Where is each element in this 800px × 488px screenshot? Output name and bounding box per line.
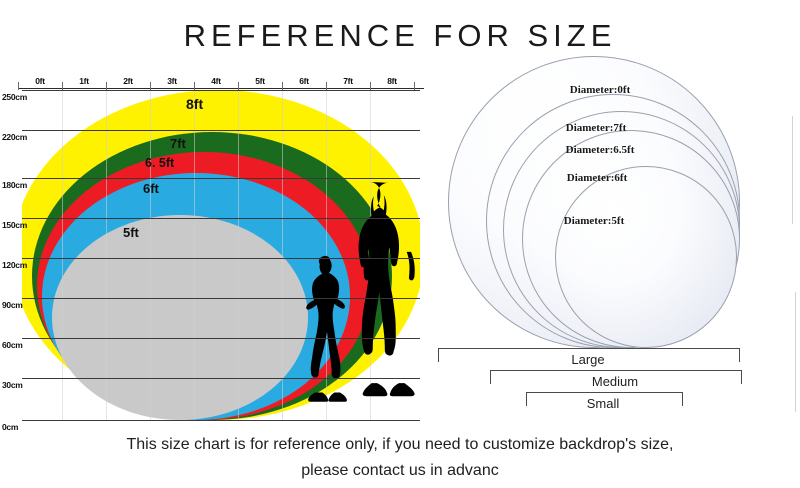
plot-area	[22, 90, 420, 420]
disc-label-6ft: Diameter:6ft	[567, 172, 627, 184]
footer-disclaimer: This size chart is for reference only, i…	[0, 432, 800, 484]
x-tick-0ft: 0ft	[35, 76, 45, 86]
y-tick-90cm: 90cm	[2, 300, 23, 310]
x-tickmark	[18, 82, 19, 90]
disc-edge-fragment	[792, 116, 793, 224]
y-tick-150cm: 150cm	[2, 220, 27, 230]
page-title: REFERENCE FOR SIZE	[0, 18, 800, 54]
size-reference-chart: REFERENCE FOR SIZE 0ft 1ft 2ft 3ft 4ft 5…	[0, 0, 800, 488]
x-tickmark	[326, 82, 327, 90]
x-tick-1ft: 1ft	[79, 76, 89, 86]
x-tickmark	[194, 82, 195, 90]
footer-line-2: please contact us in advanc	[0, 458, 800, 484]
x-tick-8ft: 8ft	[387, 76, 397, 86]
footer-line-1: This size chart is for reference only, i…	[0, 432, 800, 458]
h-gridline-250	[22, 90, 420, 91]
adult-woman-silhouette	[352, 158, 420, 420]
x-tickmark	[106, 82, 107, 90]
bracket-label-small: Small	[587, 396, 620, 411]
x-tickmark	[282, 82, 283, 90]
x-tick-5ft: 5ft	[255, 76, 265, 86]
h-gridline-180	[22, 178, 420, 179]
x-tick-4ft: 4ft	[211, 76, 221, 86]
ring-label-8ft: 8ft	[186, 96, 203, 112]
h-gridline-120	[22, 258, 420, 259]
y-tick-60cm: 60cm	[2, 340, 23, 350]
right-disc-diagram: Diameter:0ft Diameter:7ft Diameter:6.5ft…	[430, 60, 800, 440]
v-gridline	[194, 90, 195, 420]
ring-label-6.5ft: 6. 5ft	[145, 156, 174, 170]
child-silhouette	[299, 238, 355, 420]
y-tick-30cm: 30cm	[2, 380, 23, 390]
h-gridline-220	[22, 130, 420, 131]
x-tickmark	[238, 82, 239, 90]
y-tick-120cm: 120cm	[2, 260, 27, 270]
x-tickmark	[62, 82, 63, 90]
v-gridline	[150, 90, 151, 420]
v-gridline	[238, 90, 239, 420]
disc-5ft	[555, 166, 737, 348]
ring-label-5ft: 5ft	[123, 225, 139, 240]
h-gridline-30	[22, 378, 420, 379]
ring-label-7ft: 7ft	[170, 136, 186, 151]
v-gridline	[282, 90, 283, 420]
y-tick-250cm: 250cm	[2, 92, 27, 102]
h-gridline-150	[22, 218, 420, 219]
x-tickmark	[414, 82, 415, 90]
disc-label-6.5ft: Diameter:6.5ft	[566, 144, 635, 156]
disc-label-8ft: Diameter:0ft	[570, 84, 630, 96]
x-tick-7ft: 7ft	[343, 76, 353, 86]
x-tick-3ft: 3ft	[167, 76, 177, 86]
y-tick-220cm: 220cm	[2, 132, 27, 142]
disc-label-5ft: Diameter:5ft	[564, 215, 624, 227]
x-tick-2ft: 2ft	[123, 76, 133, 86]
h-gridline-90	[22, 298, 420, 299]
x-tick-6ft: 6ft	[299, 76, 309, 86]
y-tick-0cm: 0cm	[2, 422, 18, 432]
v-gridline	[106, 90, 107, 420]
y-tick-180cm: 180cm	[2, 180, 27, 190]
ring-label-6ft: 6ft	[143, 181, 159, 196]
disc-label-7ft: Diameter:7ft	[566, 122, 626, 134]
bracket-label-medium: Medium	[592, 374, 638, 389]
left-height-chart: 0ft 1ft 2ft 3ft 4ft 5ft 6ft 7ft 8ft	[0, 70, 440, 430]
disc-edge-fragment	[795, 292, 796, 412]
bracket-label-large: Large	[571, 352, 604, 367]
h-gridline-0	[22, 420, 420, 421]
x-tickmark	[370, 82, 371, 90]
ring-5ft	[52, 215, 308, 420]
x-tickmark	[150, 82, 151, 90]
h-gridline-60	[22, 338, 420, 339]
v-gridline	[62, 90, 63, 420]
